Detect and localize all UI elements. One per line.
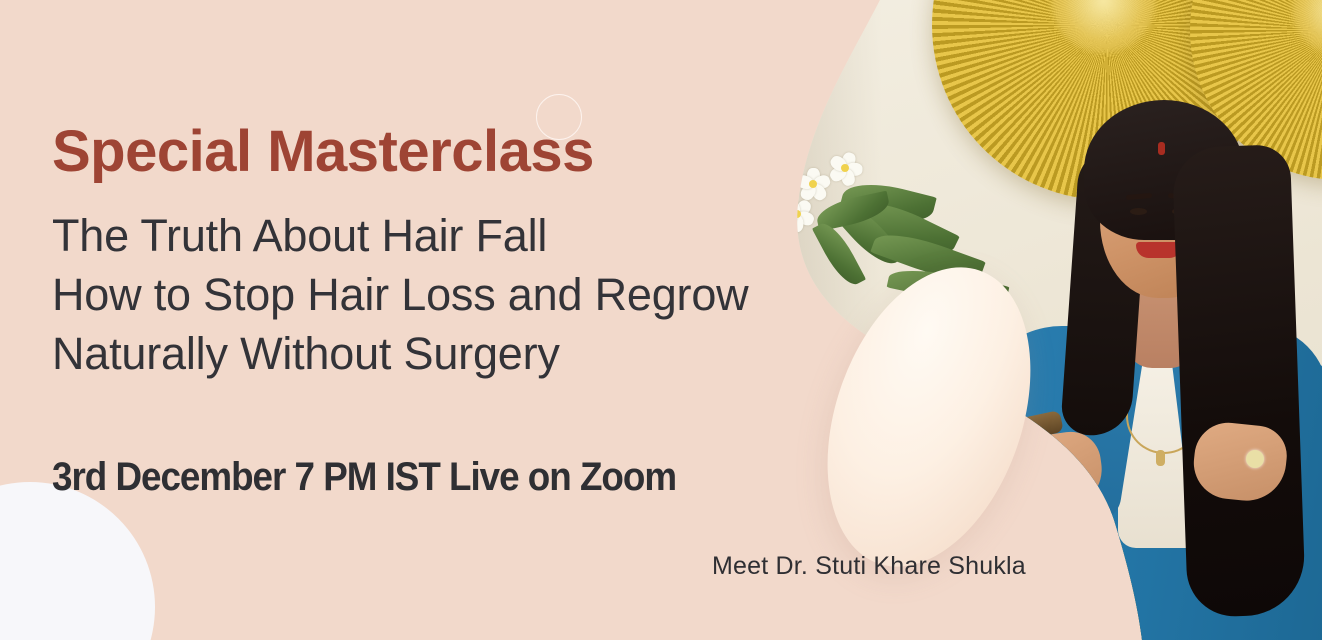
subheading-line-3: Naturally Without Surgery <box>52 324 882 383</box>
subheading-line-1: The Truth About Hair Fall <box>52 206 882 265</box>
subheading: The Truth About Hair Fall How to Stop Ha… <box>52 206 882 383</box>
event-datetime: 3rd December 7 PM IST Live on Zoom <box>52 455 676 500</box>
finger-ring <box>1046 464 1058 476</box>
hair-right <box>1172 144 1306 618</box>
headline: Special Masterclass <box>52 118 594 185</box>
left-hand <box>1005 428 1107 516</box>
finger-ring-2 <box>1068 470 1080 482</box>
presenter-name: Meet Dr. Stuti Khare Shukla <box>712 552 1026 581</box>
copy-block: Special Masterclass The Truth About Hair… <box>52 0 912 640</box>
masterclass-banner: Special Masterclass The Truth About Hair… <box>0 0 1322 640</box>
bindi <box>1158 142 1165 155</box>
necklace-pendant <box>1156 450 1165 466</box>
subheading-line-2: How to Stop Hair Loss and Regrow <box>52 265 882 324</box>
finger-ring-3 <box>1246 450 1264 468</box>
